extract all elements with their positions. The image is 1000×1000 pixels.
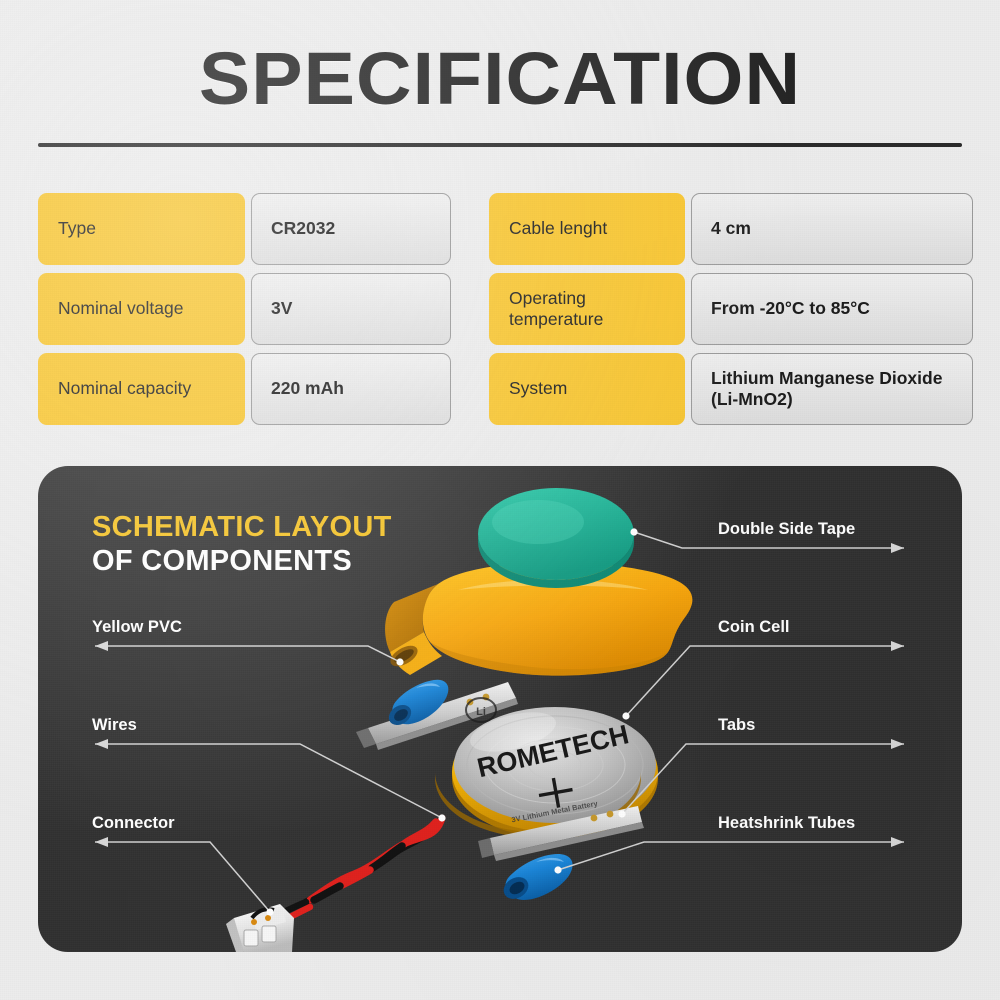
spec-label: Nominal voltage xyxy=(38,273,245,345)
spec-value: 3V xyxy=(251,273,451,345)
spec-row: Type CR2032 xyxy=(38,193,451,273)
schematic-heading: SCHEMATIC LAYOUT OF COMPONENTS xyxy=(92,510,392,578)
spec-label: System xyxy=(489,353,685,425)
specification-table: Type CR2032 Nominal voltage 3V Nominal c… xyxy=(38,193,962,433)
callout-coin-cell: Coin Cell xyxy=(718,618,790,637)
title-divider xyxy=(38,143,962,147)
page-title-wrap: SPECIFICATION xyxy=(0,42,1000,116)
spec-value: 4 cm xyxy=(691,193,973,265)
schematic-heading-line1: SCHEMATIC LAYOUT xyxy=(92,510,392,544)
callout-connector: Connector xyxy=(92,814,175,833)
spec-row: Nominal capacity 220 mAh xyxy=(38,353,451,433)
page-title: SPECIFICATION xyxy=(0,42,1000,116)
spec-row: Cable lenght 4 cm xyxy=(489,193,973,273)
spec-label: Operating temperature xyxy=(489,273,685,345)
spec-label: Type xyxy=(38,193,245,265)
spec-label: Nominal capacity xyxy=(38,353,245,425)
callout-tabs: Tabs xyxy=(718,716,755,735)
spec-row: Nominal voltage 3V xyxy=(38,273,451,353)
spec-value: 220 mAh xyxy=(251,353,451,425)
callout-heatshrink-tubes: Heatshrink Tubes xyxy=(718,814,855,833)
callout-wires: Wires xyxy=(92,716,137,735)
schematic-panel: SCHEMATIC LAYOUT OF COMPONENTS xyxy=(38,466,962,952)
callout-double-side-tape: Double Side Tape xyxy=(718,520,855,539)
spec-value: Lithium Manganese Dioxide (Li-MnO2) xyxy=(691,353,973,425)
spec-column-left: Type CR2032 Nominal voltage 3V Nominal c… xyxy=(38,193,451,433)
spec-column-right: Cable lenght 4 cm Operating temperature … xyxy=(489,193,973,433)
spec-value: From -20°C to 85°C xyxy=(691,273,973,345)
spec-value: CR2032 xyxy=(251,193,451,265)
spec-row: Operating temperature From -20°C to 85°C xyxy=(489,273,973,353)
infographic-page: SPECIFICATION Type CR2032 Nominal voltag… xyxy=(0,0,1000,1000)
spec-label: Cable lenght xyxy=(489,193,685,265)
spec-row: System Lithium Manganese Dioxide (Li-MnO… xyxy=(489,353,973,433)
schematic-heading-line2: OF COMPONENTS xyxy=(92,544,392,578)
callout-yellow-pvc: Yellow PVC xyxy=(92,618,182,637)
